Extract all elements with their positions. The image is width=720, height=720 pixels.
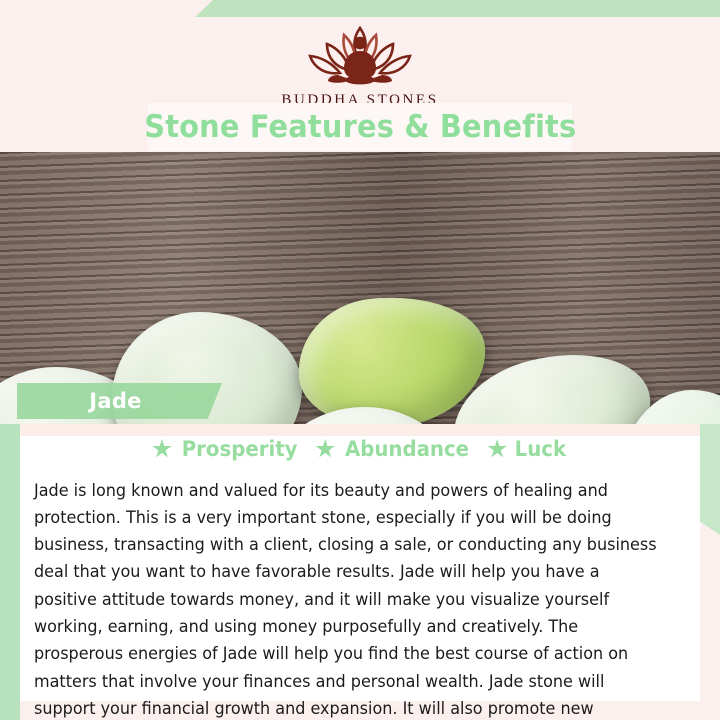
star-icon	[487, 439, 507, 459]
infographic-card: BUDDHA STONES Stone Features & Benefits …	[0, 0, 720, 720]
lotus-meditation-icon	[294, 18, 426, 90]
stone-name-banner: Jade	[17, 383, 222, 419]
benefit-item-luck: Luck	[487, 437, 568, 461]
stone-description: Jade is long known and valued for its be…	[34, 477, 666, 720]
accent-shape-left-lower	[0, 400, 20, 720]
benefit-label: Abundance	[345, 437, 469, 461]
stone-name-label: Jade	[89, 389, 141, 413]
title-band: Stone Features & Benefits	[148, 103, 572, 151]
benefits-row: Prosperity Abundance Luck	[20, 433, 700, 465]
benefit-item-prosperity: Prosperity	[152, 437, 301, 461]
benefit-label: Prosperity	[182, 437, 298, 461]
accent-shape-top-right	[195, 0, 720, 17]
page-title: Stone Features & Benefits	[144, 109, 576, 145]
star-icon	[152, 439, 172, 459]
benefit-label: Luck	[515, 437, 566, 461]
star-icon	[315, 439, 335, 459]
benefit-item-abundance: Abundance	[315, 437, 473, 461]
brand-logo: BUDDHA STONES	[0, 18, 720, 109]
